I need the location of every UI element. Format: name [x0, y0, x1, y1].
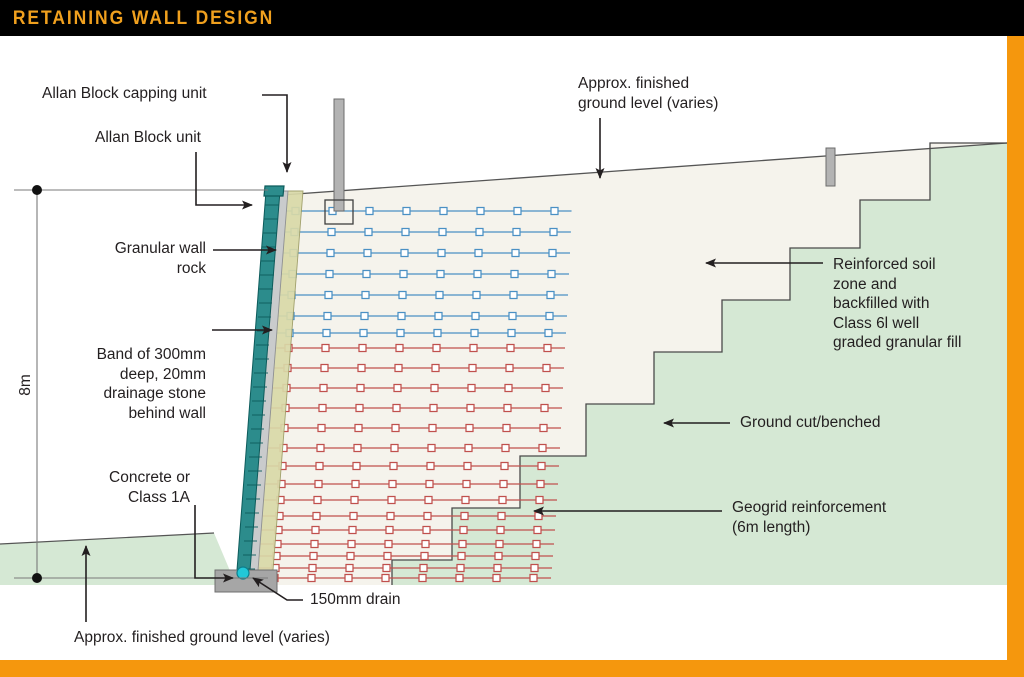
allan-block-capping-unit [264, 186, 284, 196]
label-concrete-class: Concrete or Class 1A [0, 468, 190, 507]
label-drain: 150mm drain [310, 590, 400, 610]
label-reinforced-zone: Reinforced soil zone and backfilled with… [833, 255, 961, 353]
orange-right-border [1007, 36, 1024, 677]
leader-capping-unit [262, 95, 287, 172]
dimension-label-8m: 8m [17, 365, 35, 405]
label-ground-cut: Ground cut/benched [740, 413, 880, 433]
label-block-unit: Allan Block unit [95, 128, 201, 148]
leader-block-unit [196, 152, 252, 205]
title-bar: RETAINING WALL DESIGN [0, 0, 268, 36]
label-granular-wall-rock: Granular wall rock [0, 239, 206, 278]
orange-bottom-border [0, 660, 1024, 677]
label-geogrid: Geogrid reinforcement (6m length) [732, 498, 886, 537]
fence-post-slope [826, 148, 835, 186]
diagram-canvas: RETAINING WALL DESIGN Allan Block cappin… [0, 0, 1024, 677]
label-ground-level-bottom: Approx. finished ground level (varies) [74, 628, 330, 648]
page-title: RETAINING WALL DESIGN [0, 0, 247, 30]
label-capping-unit: Allan Block capping unit [42, 84, 207, 104]
drain-pipe-150mm [237, 567, 249, 579]
label-ground-level-top: Approx. finished ground level (varies) [578, 74, 718, 113]
